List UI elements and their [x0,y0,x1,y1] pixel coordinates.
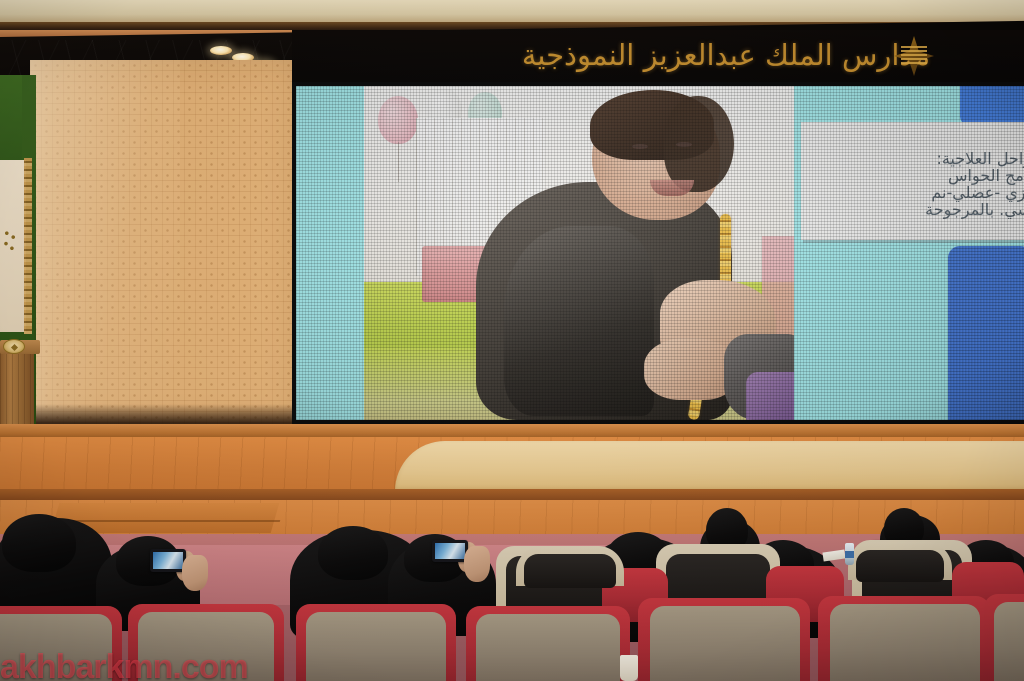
seat-front-6-pad[interactable] [830,604,980,681]
panel-gold-border [24,158,32,334]
seat-mid-right-1-inner[interactable] [524,554,616,588]
emblem-inner-text [901,46,927,64]
screen-surface: راحل العلاجية: دمج الحواس يزي -عضلي-نم س… [296,86,1024,420]
school-diamond-emblem-icon [892,34,936,78]
banner-arabic-title: مدارس الملك عبدالعزيز النموذجية [516,32,936,78]
slide-photograph [364,86,794,420]
phone-device-1-hand-support [182,555,208,591]
led-display-screen: راحل العلاجية: دمج الحواس يزي -عضلي-نم س… [292,82,1024,424]
ceiling-spotlight-1 [210,46,232,55]
seat-front-4-pad[interactable] [476,614,620,681]
auditorium-photo: راحل العلاجية: دمج الحواس يزي -عضلي-نم س… [0,0,1024,681]
seat-front-3-pad[interactable] [306,612,446,681]
paper-cup [620,655,638,681]
attendee-front-left-head [2,514,76,572]
hall-banner: مدارس الملك عبدالعزيز النموذجية [292,30,1024,82]
water-bottle-label [845,551,854,558]
child-eye-right [676,142,692,147]
child-eye-left [632,144,648,149]
slide-text-card: راحل العلاجية: دمج الحواس يزي -عضلي-نم س… [801,122,1024,240]
slide-card-text: راحل العلاجية: دمج الحواس يزي -عضلي-نم س… [801,150,1024,218]
balloon-string-1 [398,142,399,182]
seat-front-7-pad[interactable] [994,602,1024,681]
phone-device-2-screen [435,543,465,559]
podium-gold-emblem [3,339,25,354]
stage-riser-edge [60,520,281,522]
phone-device-1-screen [153,552,183,569]
slide-blue-tab [960,86,1024,126]
phone-device-2-hand-support [464,546,490,582]
patterned-back-wall [30,60,330,430]
slide-blue-panel-texture [948,246,1024,420]
child-hair-side [664,96,734,192]
child-clothing-fold [504,226,654,416]
child-hand [644,338,736,400]
seat-mid-right-2-inner[interactable] [856,550,944,582]
seat-front-2-pad[interactable] [138,612,274,681]
panel-floral-motif [2,228,18,254]
attendee-center-left-head [318,526,388,580]
stage-floor-inlay [395,441,1024,491]
balloon-pink [378,96,418,144]
photo-purple-object [746,372,794,420]
seat-front-5-pad[interactable] [650,606,800,681]
seat-front-1-pad[interactable] [0,614,112,681]
